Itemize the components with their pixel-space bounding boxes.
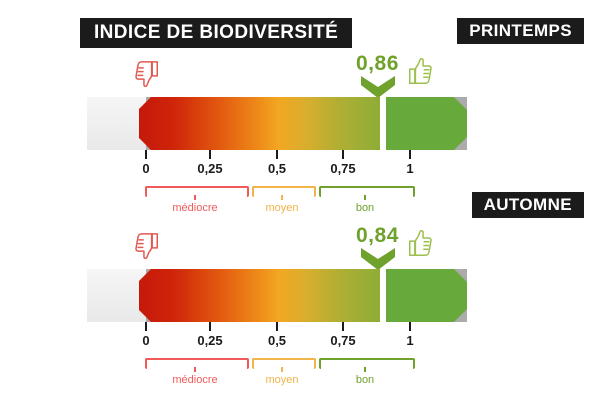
axis-tick-label: 1	[406, 333, 413, 348]
gauge-marker-gap	[380, 97, 386, 150]
axis-tick-label: 0	[142, 161, 149, 176]
axis-automne: 0 0,25 0,5 0,75 1 médiocre moyen bon	[87, 322, 467, 396]
band-label-mediocre: médiocre	[172, 202, 217, 214]
season-label-printemps: PRINTEMPS	[457, 18, 584, 44]
gauge-marker-segment	[386, 97, 467, 150]
axis-tick	[209, 150, 211, 159]
axis-tick-label: 0,5	[268, 333, 286, 348]
axis-tick-label: 0,25	[197, 333, 222, 348]
band-label-mediocre: médiocre	[172, 374, 217, 386]
band-label-bon: bon	[356, 374, 374, 386]
axis-tick	[145, 150, 147, 159]
season-label-automne: AUTOMNE	[472, 192, 584, 218]
band-bracket-moyen	[252, 186, 316, 197]
value-label-printemps: 0,86	[356, 52, 399, 76]
band-bracket-tick	[194, 367, 196, 372]
axis-tick	[409, 150, 411, 159]
thumbs-up-icon	[406, 227, 436, 259]
gauge-bar-automne	[87, 269, 467, 322]
value-label-automne: 0,84	[356, 224, 399, 248]
band-label-bon: bon	[356, 202, 374, 214]
band-bracket-mediocre	[145, 358, 249, 369]
gauge-marker-segment	[386, 269, 467, 322]
axis-tick-label: 0,75	[330, 161, 355, 176]
gauge-bar-printemps	[87, 97, 467, 150]
band-bracket-moyen	[252, 358, 316, 369]
axis-tick-label: 0	[142, 333, 149, 348]
gauge-gradient-fill	[139, 97, 380, 150]
axis-printemps: 0 0,25 0,5 0,75 1 médiocre moyen bon	[87, 150, 467, 224]
band-label-moyen: moyen	[265, 374, 298, 386]
thumbs-down-icon	[131, 230, 161, 262]
band-label-moyen: moyen	[265, 202, 298, 214]
page-title: INDICE DE BIODIVERSITÉ	[80, 18, 352, 48]
band-bracket-tick	[281, 367, 283, 372]
axis-tick	[209, 322, 211, 331]
axis-tick-label: 1	[406, 161, 413, 176]
axis-tick	[145, 322, 147, 331]
gauge-marker-gap	[380, 269, 386, 322]
thumbs-up-icon	[406, 55, 436, 87]
axis-tick-label: 0,5	[268, 161, 286, 176]
band-bracket-mediocre	[145, 186, 249, 197]
axis-tick-label: 0,75	[330, 333, 355, 348]
infographic-root: INDICE DE BIODIVERSITÉ PRINTEMPS 0,86	[0, 0, 600, 400]
band-bracket-tick	[281, 195, 283, 200]
band-bracket-tick	[194, 195, 196, 200]
axis-tick	[276, 150, 278, 159]
band-bracket-tick	[364, 195, 366, 200]
band-bracket-tick	[364, 367, 366, 372]
gauge-gradient-fill	[139, 269, 380, 322]
axis-tick	[342, 150, 344, 159]
band-bracket-bon	[319, 358, 415, 369]
axis-tick	[409, 322, 411, 331]
band-bracket-bon	[319, 186, 415, 197]
thumbs-down-icon	[131, 58, 161, 90]
gauge-panel-automne: 0,84	[0, 222, 600, 397]
axis-tick	[276, 322, 278, 331]
axis-tick-label: 0,25	[197, 161, 222, 176]
axis-tick	[342, 322, 344, 331]
